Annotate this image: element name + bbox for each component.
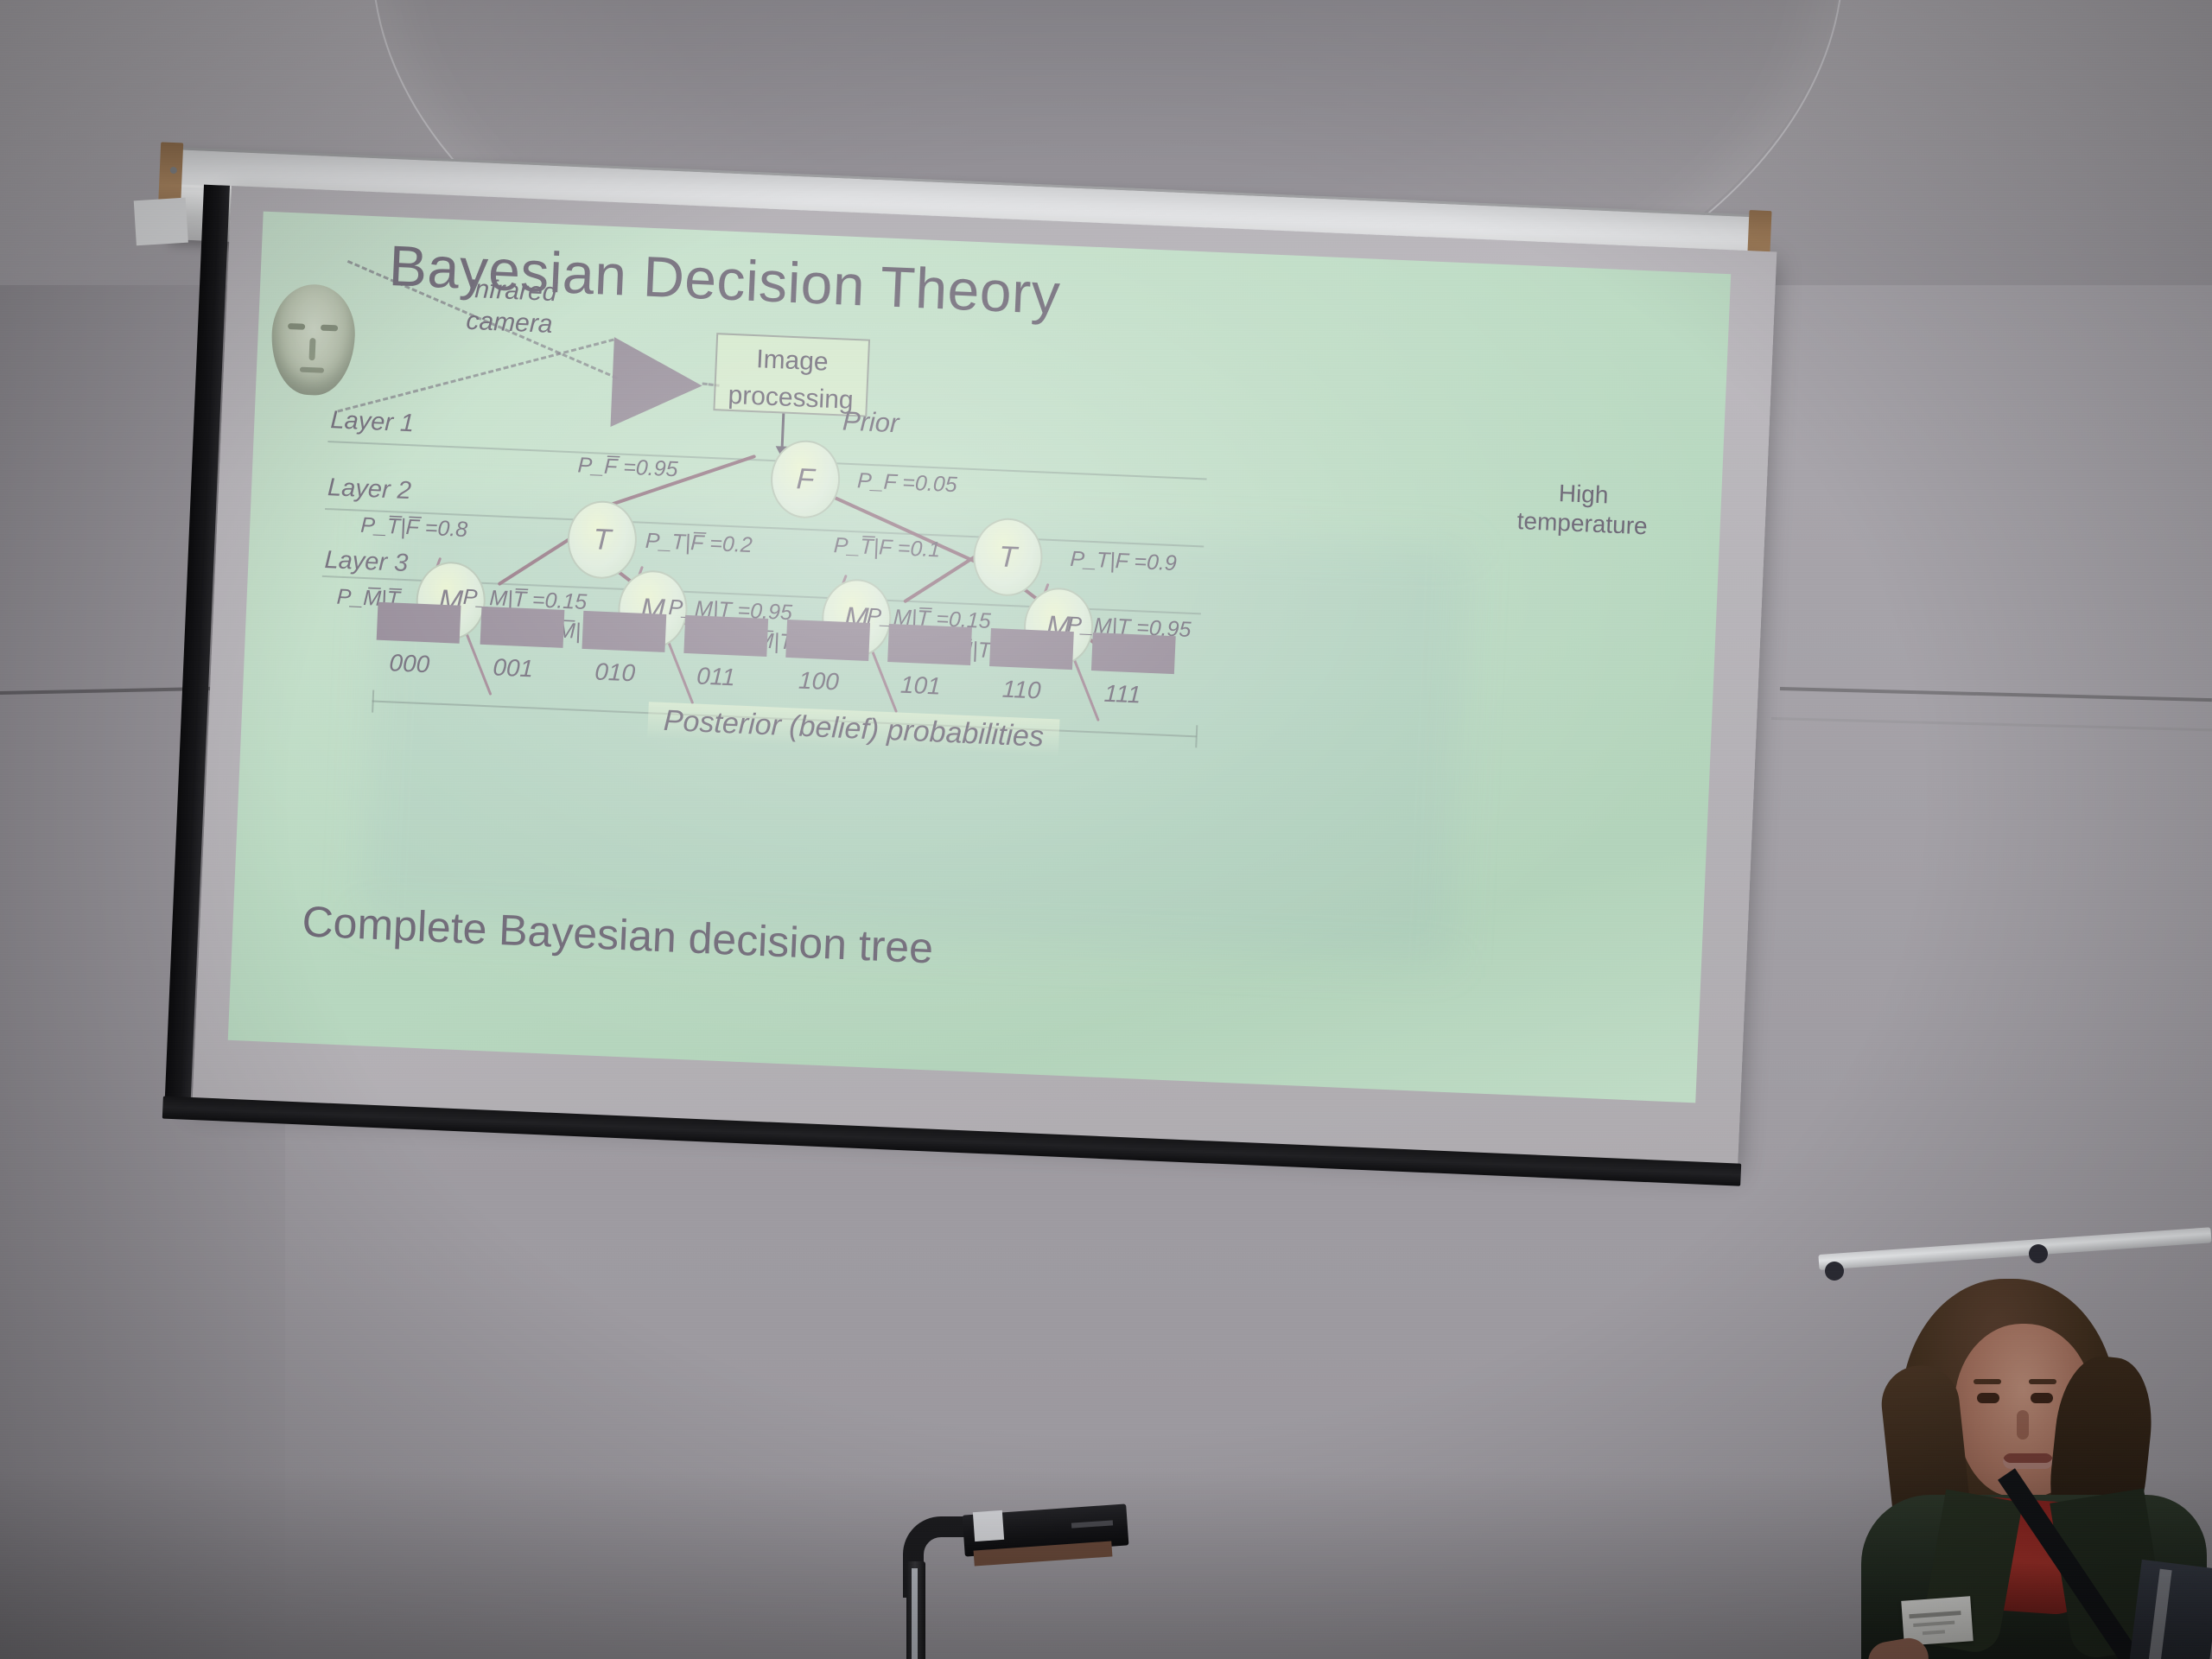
prior-arrow-icon <box>780 413 785 451</box>
layer-2-label: Layer 2 <box>327 474 411 505</box>
leaf-label-100: 100 <box>798 667 839 696</box>
leaf-label-110: 110 <box>1001 676 1041 705</box>
sight-line-lower <box>338 339 614 413</box>
leaf-bar-011 <box>683 615 768 657</box>
node-T1-label: T <box>593 523 612 557</box>
projected-slide: Bayesian Decision Theory Infrared camera… <box>228 212 1731 1103</box>
slide-caption: Complete Bayesian decision tree <box>301 896 934 973</box>
wall-patch <box>134 198 188 246</box>
layer-1-rule <box>327 441 1206 480</box>
node-T2[interactable]: T <box>972 517 1045 597</box>
presenter-eyebrow-left <box>1974 1379 2001 1384</box>
infrared-camera-label-line1: Infrared <box>467 274 557 309</box>
presenter-eye-left <box>1977 1393 1999 1403</box>
node-T1[interactable]: T <box>566 499 639 580</box>
projection-screen[interactable]: Bayesian Decision Theory Infrared camera… <box>193 186 1777 1167</box>
leaf-label-011: 011 <box>696 663 736 692</box>
prob-label-p-tbar-fbar: P_T̅|F̅ =0.8 <box>360 513 468 543</box>
lecture-room-photo: Bayesian Decision Theory Infrared camera… <box>0 0 2212 1659</box>
high-temperature-line2: temperature <box>1516 506 1648 541</box>
leaf-bar-000 <box>377 602 461 644</box>
posterior-probabilities-caption: Posterior (belief) probabilities <box>647 702 1060 756</box>
rail-knob-left <box>1825 1262 1844 1281</box>
layer-1-label: Layer 1 <box>330 406 415 438</box>
presenter-mouth <box>2003 1453 2053 1469</box>
leaf-bar-001 <box>480 607 565 648</box>
rail-knob-right <box>2029 1244 2048 1263</box>
prior-label: Prior <box>842 405 899 439</box>
prob-label-p-t-fbar: P_T|F̅ =0.2 <box>645 529 753 558</box>
leaf-label-010: 010 <box>594 658 636 687</box>
prob-label-p-t-f: P_T|F =0.9 <box>1070 547 1178 576</box>
image-processing-box: Image processing <box>713 333 870 417</box>
node-T2-label: T <box>998 540 1017 575</box>
lower-shadow <box>0 1469 2212 1659</box>
camera-cone-icon <box>610 337 703 430</box>
leaf-bar-101 <box>887 624 972 665</box>
face-eye-right <box>321 325 338 332</box>
prob-label-p-fbar: P_F̅ =0.95 <box>577 453 678 482</box>
presenter-nose <box>2017 1410 2029 1440</box>
layer-3-label: Layer 3 <box>324 546 409 578</box>
image-processing-line1: Image <box>716 340 868 383</box>
posterior-span-tick-right <box>1195 725 1198 747</box>
leaf-label-001: 001 <box>493 653 534 683</box>
leaf-label-101: 101 <box>899 671 941 701</box>
face-mouth <box>300 367 324 373</box>
presenter-eye-right <box>2031 1393 2053 1403</box>
leaf-label-111: 111 <box>1103 680 1141 709</box>
leaf-bar-110 <box>989 628 1074 670</box>
high-temperature-label: High temperature <box>1516 477 1649 541</box>
infrared-camera-label: Infrared camera <box>466 274 557 341</box>
leaf-bar-100 <box>785 620 870 661</box>
prob-label-p-tbar-f: P_T̅|F =0.1 <box>833 533 941 563</box>
presenter-eyebrow-right <box>2029 1379 2056 1384</box>
leaf-bar-111 <box>1091 632 1176 674</box>
face-eye-left <box>288 323 305 330</box>
node-F-label: F <box>796 462 815 497</box>
thermal-face-image <box>270 283 357 397</box>
prob-label-p-f: P_F =0.05 <box>856 468 957 498</box>
infrared-camera-label-line2: camera <box>466 305 556 340</box>
leaf-bar-010 <box>582 611 666 652</box>
roller-screw-top <box>170 167 177 174</box>
leaf-label-000: 000 <box>389 649 430 678</box>
face-nose <box>308 338 315 360</box>
